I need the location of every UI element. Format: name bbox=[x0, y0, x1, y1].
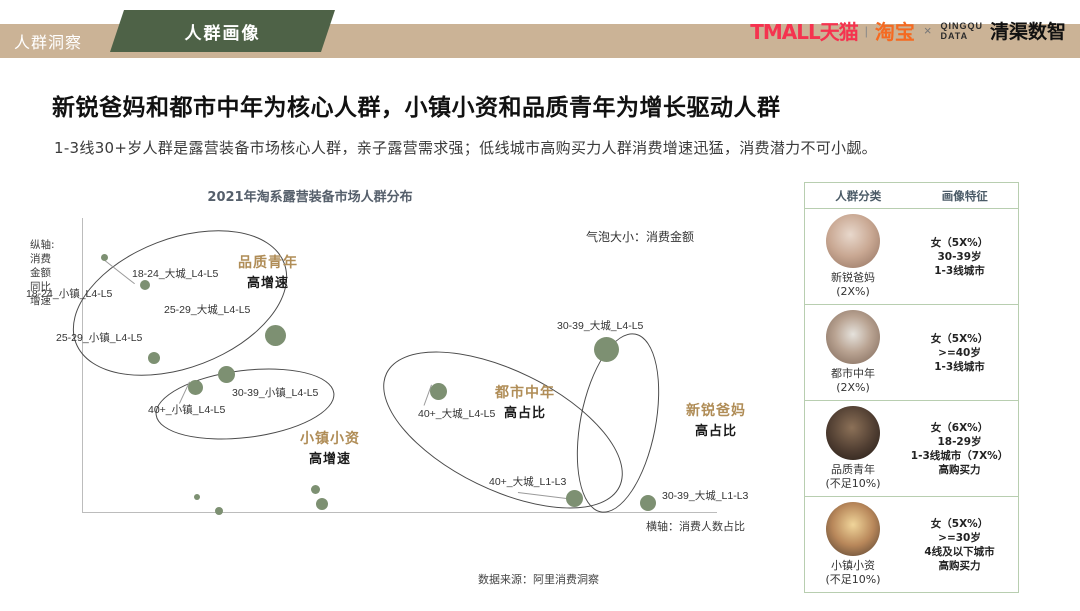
cluster-name-xinrui: 新锐爸妈 bbox=[686, 400, 746, 420]
y-axis-label-line2: 消费 bbox=[30, 253, 51, 265]
bubble-3039-xiaozhen bbox=[218, 366, 235, 383]
cluster-label-xiaozhen-xiaozi: 小镇小资 高增速 bbox=[300, 428, 360, 467]
persona-table: 人群分类 画像特征 新锐爸妈 (2X%) 女（5X%） 30-39岁 1-3线城… bbox=[804, 182, 1019, 593]
persona-table-header: 人群分类 画像特征 bbox=[805, 183, 1018, 209]
persona-avatar-icon bbox=[826, 310, 880, 364]
persona-feature: 女（5X%） bbox=[931, 517, 988, 531]
persona-feature: 1-3线城市 bbox=[934, 360, 984, 374]
bubble-40-dacheng bbox=[430, 383, 447, 400]
persona-avatar-icon bbox=[826, 214, 880, 268]
header-section-label: 人群洞察 bbox=[14, 29, 82, 53]
y-axis-line bbox=[82, 218, 83, 513]
bubble-2529-xiaozhen bbox=[148, 352, 160, 364]
persona-share: (2X%) bbox=[836, 381, 870, 395]
bubble-1824-xiaozhen bbox=[101, 254, 108, 261]
persona-feature: 高购买力 bbox=[939, 463, 981, 477]
cluster-label-pinzhi-qingnian: 品质青年 高增速 bbox=[238, 252, 298, 291]
chart-title: 2021年淘系露营装备市场人群分布 bbox=[0, 186, 620, 205]
table-row[interactable]: 都市中年 (2X%) 女（5X%） >=40岁 1-3线城市 bbox=[805, 305, 1018, 401]
point-label-3039-xiaozhen: 30-39_小镇_L4-L5 bbox=[232, 385, 318, 400]
slide-root: 人群洞察 人群画像 TMALL天猫 | 淘宝 × QINGQU DATA 清渠数… bbox=[0, 0, 1080, 611]
persona-feature: 1-3线城市（7X%） bbox=[911, 449, 1008, 463]
page-title: 新锐爸妈和都市中年为核心人群，小镇小资和品质青年为增长驱动人群 bbox=[52, 88, 781, 122]
cluster-name-xiaozhen: 小镇小资 bbox=[300, 428, 360, 448]
bubble-1824-dacheng bbox=[140, 280, 150, 290]
point-label-2529-xiaozhen: 25-29_小镇_L4-L5 bbox=[56, 330, 142, 345]
bubble-minor-1 bbox=[194, 494, 200, 500]
bubble-3039-dacheng-l1l3 bbox=[640, 495, 656, 511]
taobao-logo: 淘宝 bbox=[875, 16, 915, 45]
persona-feature: 女（6X%） bbox=[931, 421, 988, 435]
persona-share: (不足10%) bbox=[825, 477, 880, 491]
persona-feature: >=30岁 bbox=[938, 531, 981, 545]
cluster-note-xinrui: 高占比 bbox=[686, 420, 746, 439]
bubble-minor-4 bbox=[316, 498, 328, 510]
bubble-2529-dacheng bbox=[265, 325, 286, 346]
persona-feature: 女（5X%） bbox=[931, 332, 988, 346]
persona-table-header-category: 人群分类 bbox=[805, 183, 912, 208]
cluster-note-xiaozhen: 高增速 bbox=[300, 448, 360, 467]
header-banner-label: 人群画像 bbox=[110, 10, 335, 52]
persona-cell-category: 小镇小资 (不足10%) bbox=[805, 497, 901, 592]
persona-feature: 1-3线城市 bbox=[934, 264, 984, 278]
cluster-label-xinrui-bama: 新锐爸妈 高占比 bbox=[686, 400, 746, 439]
point-label-1824-xiaozhen: 18-24_小镇_L4-L5 bbox=[26, 286, 112, 301]
point-label-40-dacheng: 40+_大城_L4-L5 bbox=[418, 406, 495, 421]
bubble-40-dacheng-l1l3 bbox=[566, 490, 583, 507]
y-axis-label-line1: 纵轴: bbox=[30, 239, 55, 251]
scatter-chart: 2021年淘系露营装备市场人群分布 纵轴: 消费 金额 同比 增速 横轴：消费人… bbox=[0, 170, 800, 580]
persona-cell-category: 品质青年 (不足10%) bbox=[805, 401, 901, 496]
bubble-size-legend: 气泡大小：消费金额 bbox=[586, 228, 694, 245]
persona-feature: >=40岁 bbox=[938, 346, 981, 360]
persona-share: (2X%) bbox=[836, 285, 870, 299]
table-row[interactable]: 小镇小资 (不足10%) 女（5X%） >=30岁 4线及以下城市 高购买力 bbox=[805, 497, 1018, 592]
point-label-40-xiaozhen: 40+_小镇_L4-L5 bbox=[148, 402, 225, 417]
persona-avatar-icon bbox=[826, 502, 880, 556]
bubble-40-xiaozhen bbox=[188, 380, 203, 395]
persona-cell-category: 都市中年 (2X%) bbox=[805, 305, 901, 400]
cluster-name-dushi: 都市中年 bbox=[495, 382, 555, 402]
y-axis-label-line3: 金额 bbox=[30, 267, 51, 279]
persona-share: (不足10%) bbox=[825, 573, 880, 587]
cluster-note-dushi: 高占比 bbox=[495, 402, 555, 421]
bubble-minor-3 bbox=[311, 485, 320, 494]
x-axis-label: 横轴：消费人数占比 bbox=[646, 518, 745, 534]
qingqu-data-logo: QINGQU DATA bbox=[940, 21, 983, 41]
qingqu-logo-line1: QINGQU bbox=[940, 21, 983, 31]
persona-table-header-features: 画像特征 bbox=[912, 183, 1019, 208]
cluster-label-dushi-zhongnian: 都市中年 高占比 bbox=[495, 382, 555, 421]
logo-separator: | bbox=[865, 24, 868, 38]
persona-cell-features: 女（5X%） >=40岁 1-3线城市 bbox=[901, 305, 1018, 400]
persona-feature: 女（5X%） bbox=[931, 236, 988, 250]
point-label-2529-dacheng: 25-29_大城_L4-L5 bbox=[164, 302, 250, 317]
bubble-3039-dacheng bbox=[594, 337, 619, 362]
persona-cell-features: 女（6X%） 18-29岁 1-3线城市（7X%） 高购买力 bbox=[901, 401, 1018, 496]
qingqu-cn-logo: 清渠数智 bbox=[990, 17, 1066, 44]
persona-name: 品质青年 bbox=[831, 463, 875, 477]
logo-cross-icon: × bbox=[924, 23, 932, 38]
page-subtitle: 1-3线30+岁人群是露营装备市场核心人群，亲子露营需求强；低线城市高购买力人群… bbox=[54, 137, 877, 158]
persona-feature: 18-29岁 bbox=[937, 435, 981, 449]
persona-avatar-icon bbox=[826, 406, 880, 460]
brand-logos: TMALL天猫 | 淘宝 × QINGQU DATA 清渠数智 bbox=[750, 16, 1066, 45]
persona-name: 都市中年 bbox=[831, 367, 875, 381]
persona-cell-features: 女（5X%） 30-39岁 1-3线城市 bbox=[901, 209, 1018, 304]
persona-cell-features: 女（5X%） >=30岁 4线及以下城市 高购买力 bbox=[901, 497, 1018, 592]
persona-feature: 30-39岁 bbox=[937, 250, 981, 264]
cluster-name-pinzhi: 品质青年 bbox=[238, 252, 298, 272]
persona-feature: 4线及以下城市 bbox=[924, 545, 994, 559]
point-label-3039-dacheng: 30-39_大城_L4-L5 bbox=[557, 318, 643, 333]
cluster-note-pinzhi: 高增速 bbox=[238, 272, 298, 291]
point-label-3039-dacheng-l1l3: 30-39_大城_L1-L3 bbox=[662, 488, 748, 503]
tmall-logo: TMALL天猫 bbox=[750, 16, 858, 45]
bubble-minor-2 bbox=[215, 507, 223, 515]
x-axis-line bbox=[82, 512, 717, 513]
table-row[interactable]: 品质青年 (不足10%) 女（6X%） 18-29岁 1-3线城市（7X%） 高… bbox=[805, 401, 1018, 497]
point-label-1824-dacheng: 18-24_大城_L4-L5 bbox=[132, 266, 218, 281]
persona-cell-category: 新锐爸妈 (2X%) bbox=[805, 209, 901, 304]
persona-name: 新锐爸妈 bbox=[831, 271, 875, 285]
persona-feature: 高购买力 bbox=[939, 559, 981, 573]
persona-name: 小镇小资 bbox=[831, 559, 875, 573]
table-row[interactable]: 新锐爸妈 (2X%) 女（5X%） 30-39岁 1-3线城市 bbox=[805, 209, 1018, 305]
point-label-40-dacheng-l1l3: 40+_大城_L1-L3 bbox=[489, 474, 566, 489]
chart-source-note: 数据来源：阿里消费洞察 bbox=[478, 571, 599, 587]
qingqu-logo-line2: DATA bbox=[940, 31, 983, 41]
